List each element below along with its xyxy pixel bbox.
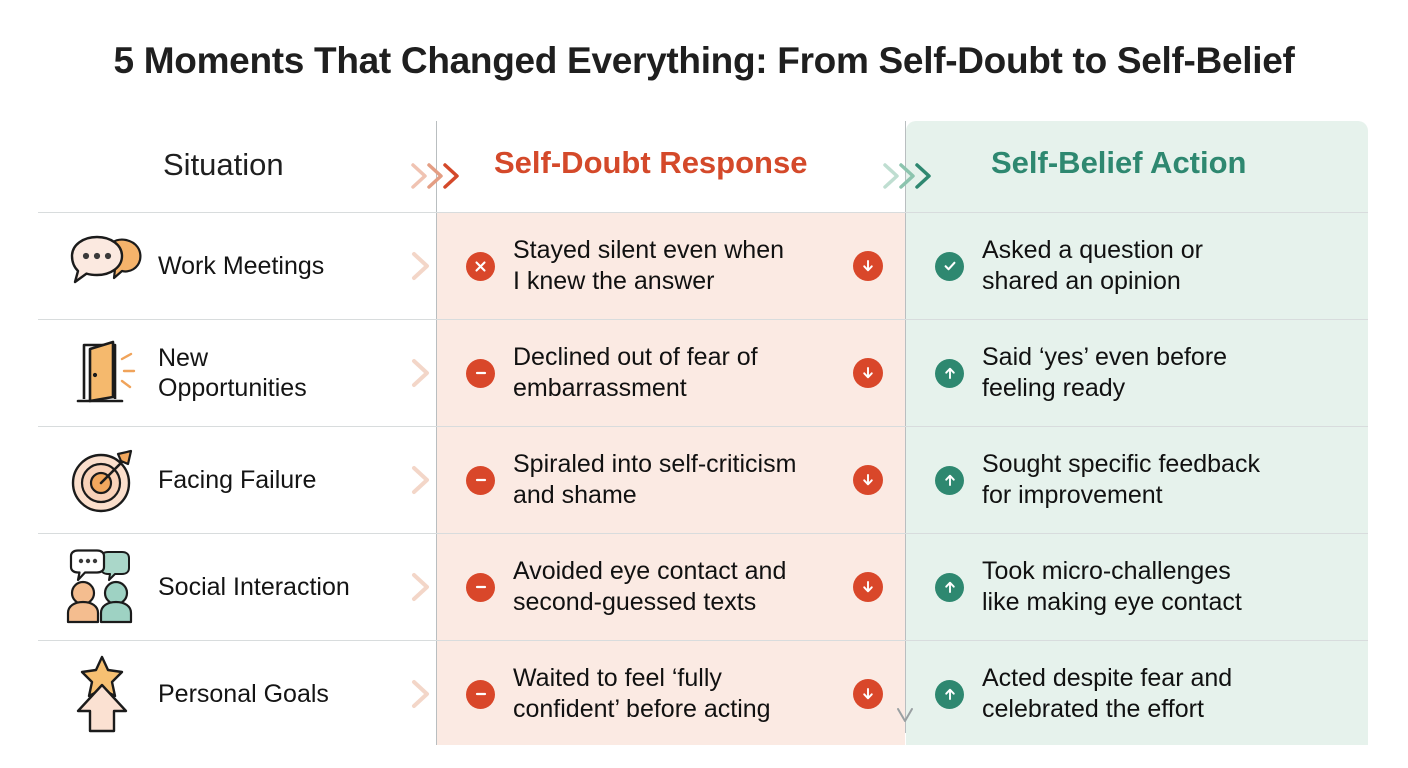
self-doubt-text: Waited to feel ‘fully confident’ before …: [513, 663, 771, 725]
self-belief-text-line2: like making eye contact: [982, 587, 1242, 618]
double-chevron-right-icon: [881, 159, 939, 193]
self-belief-text-line2: for improvement: [982, 480, 1260, 511]
situation-cell: Personal Goals: [38, 641, 436, 747]
table-row: Personal Goals Waited to feel ‘fully con…: [0, 641, 1408, 747]
situation-cell: New Opportunities: [38, 320, 436, 426]
self-doubt-text: Avoided eye contact and second-guessed t…: [513, 556, 786, 618]
chevron-right-icon: [408, 678, 434, 710]
self-doubt-text-line1: Avoided eye contact and: [513, 556, 786, 587]
circle-arrow-down-icon: [853, 679, 883, 709]
page-title: 5 Moments That Changed Everything: From …: [0, 40, 1408, 82]
situation-label: Facing Failure: [158, 465, 316, 496]
self-doubt-text: Declined out of fear of embarrassment: [513, 342, 758, 404]
chevron-right-icon: [408, 250, 434, 282]
table-row: New Opportunities Declined out of fear o…: [0, 320, 1408, 426]
situation-label: New Opportunities: [158, 343, 307, 404]
table-row: Social Interaction Avoided eye contact a…: [0, 534, 1408, 640]
situation-label-line1: New: [158, 343, 307, 374]
self-doubt-text-line1: Declined out of fear of: [513, 342, 758, 373]
situation-label: Social Interaction: [158, 572, 350, 603]
self-doubt-text-line1: Spiraled into self-criticism: [513, 449, 796, 480]
circle-arrow-down-icon: [853, 572, 883, 602]
circle-arrow-up-icon: [935, 466, 964, 495]
self-belief-text-line1: Asked a question or: [982, 235, 1203, 266]
self-belief-text-line1: Said ‘yes’ even before: [982, 342, 1227, 373]
header-situation: Situation: [163, 147, 284, 183]
situation-cell: Work Meetings: [38, 213, 436, 319]
situation-label: Work Meetings: [158, 251, 324, 282]
self-doubt-text-line2: confident’ before acting: [513, 694, 771, 725]
self-doubt-text-line2: and shame: [513, 480, 796, 511]
self-doubt-text: Stayed silent even when I knew the answe…: [513, 235, 784, 297]
self-belief-text: Took micro-challenges like making eye co…: [982, 556, 1242, 618]
target-arrow-icon: [62, 443, 148, 517]
double-chevron-right-icon: [409, 159, 467, 193]
situation-cell: Facing Failure: [38, 427, 436, 533]
chevron-right-icon: [408, 464, 434, 496]
self-belief-cell: Said ‘yes’ even before feeling ready: [906, 320, 1368, 426]
circle-minus-icon: [466, 573, 495, 602]
self-doubt-text-line2: embarrassment: [513, 373, 758, 404]
circle-arrow-down-icon: [853, 358, 883, 388]
open-door-icon: [62, 336, 148, 410]
infographic-page: 5 Moments That Changed Everything: From …: [0, 0, 1408, 768]
circle-arrow-up-icon: [935, 680, 964, 709]
self-doubt-text-line1: Stayed silent even when: [513, 235, 784, 266]
circle-arrow-down-icon: [853, 251, 883, 281]
two-people-chat-icon: [62, 550, 148, 624]
self-belief-text: Sought specific feedback for improvement: [982, 449, 1260, 511]
self-belief-cell: Sought specific feedback for improvement: [906, 427, 1368, 533]
table-header-row: Situation Self-Doubt Response Self-Belie…: [0, 121, 1408, 212]
self-doubt-cell: Waited to feel ‘fully confident’ before …: [437, 641, 905, 747]
self-belief-cell: Asked a question or shared an opinion: [906, 213, 1368, 319]
circle-minus-icon: [466, 680, 495, 709]
self-belief-text-line1: Acted despite fear and: [982, 663, 1232, 694]
self-doubt-cell: Stayed silent even when I knew the answe…: [437, 213, 905, 319]
situation-cell: Social Interaction: [38, 534, 436, 640]
chevron-right-icon: [408, 357, 434, 389]
speech-bubbles-icon: [62, 229, 148, 303]
circle-x-icon: [466, 252, 495, 281]
self-belief-text-line2: celebrated the effort: [982, 694, 1232, 725]
table-row: Facing Failure Spiraled into self-critic…: [0, 427, 1408, 533]
self-belief-cell: Acted despite fear and celebrated the ef…: [906, 641, 1368, 747]
self-doubt-text-line1: Waited to feel ‘fully: [513, 663, 771, 694]
circle-minus-icon: [466, 466, 495, 495]
circle-arrow-up-icon: [935, 359, 964, 388]
self-belief-text-line2: shared an opinion: [982, 266, 1203, 297]
self-doubt-cell: Spiraled into self-criticism and shame: [437, 427, 905, 533]
self-doubt-text-line2: I knew the answer: [513, 266, 784, 297]
self-belief-text: Asked a question or shared an opinion: [982, 235, 1203, 297]
self-doubt-text-line2: second-guessed texts: [513, 587, 786, 618]
chevron-right-icon: [408, 571, 434, 603]
circle-check-icon: [935, 252, 964, 281]
header-self-belief-action: Self-Belief Action: [991, 145, 1247, 181]
self-belief-text: Acted despite fear and celebrated the ef…: [982, 663, 1232, 725]
self-doubt-text: Spiraled into self-criticism and shame: [513, 449, 796, 511]
star-arrow-up-icon: [62, 657, 148, 731]
self-doubt-cell: Avoided eye contact and second-guessed t…: [437, 534, 905, 640]
self-doubt-cell: Declined out of fear of embarrassment: [437, 320, 905, 426]
situation-label-line2: Opportunities: [158, 373, 307, 404]
table-row: Work Meetings Stayed silent even when I …: [0, 213, 1408, 319]
self-belief-cell: Took micro-challenges like making eye co…: [906, 534, 1368, 640]
header-self-doubt-response: Self-Doubt Response: [494, 145, 807, 181]
situation-label: Personal Goals: [158, 679, 329, 710]
self-belief-text: Said ‘yes’ even before feeling ready: [982, 342, 1227, 404]
circle-minus-icon: [466, 359, 495, 388]
circle-arrow-down-icon: [853, 465, 883, 495]
self-belief-text-line1: Sought specific feedback: [982, 449, 1260, 480]
circle-arrow-up-icon: [935, 573, 964, 602]
self-belief-text-line2: feeling ready: [982, 373, 1227, 404]
self-belief-text-line1: Took micro-challenges: [982, 556, 1242, 587]
